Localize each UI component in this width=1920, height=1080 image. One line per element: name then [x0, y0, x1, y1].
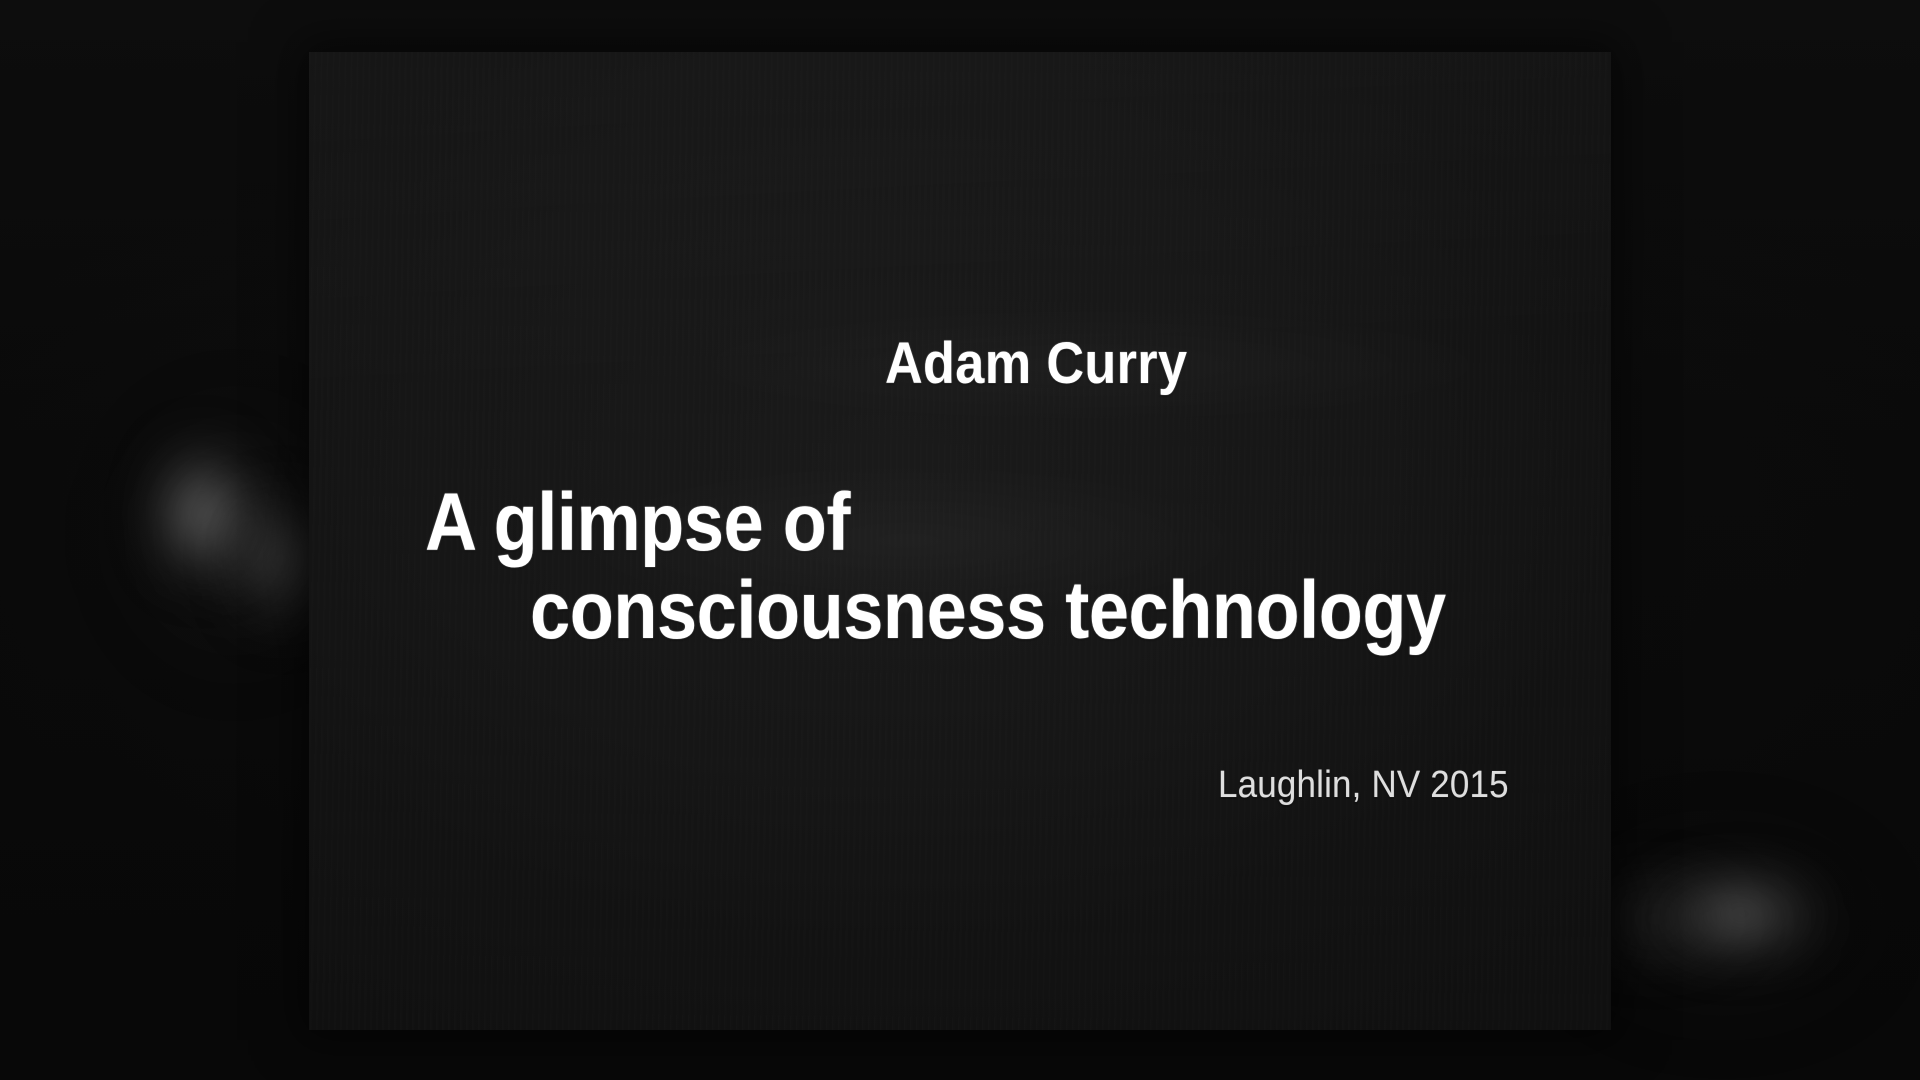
presentation-slide: Adam Curry A glimpse of consciousness te… — [309, 52, 1611, 1030]
slide-venue-and-year: Laughlin, NV 2015 — [1218, 764, 1509, 807]
slide-title-line-2: consciousness technology — [530, 564, 1446, 658]
blurred-light-left-primary — [150, 440, 254, 580]
video-frame: Adam Curry A glimpse of consciousness te… — [0, 0, 1920, 1080]
presenter-name: Adam Curry — [885, 330, 1187, 397]
slide-title-line-1: A glimpse of — [425, 476, 850, 570]
blurred-light-right-primary — [1620, 866, 1830, 966]
